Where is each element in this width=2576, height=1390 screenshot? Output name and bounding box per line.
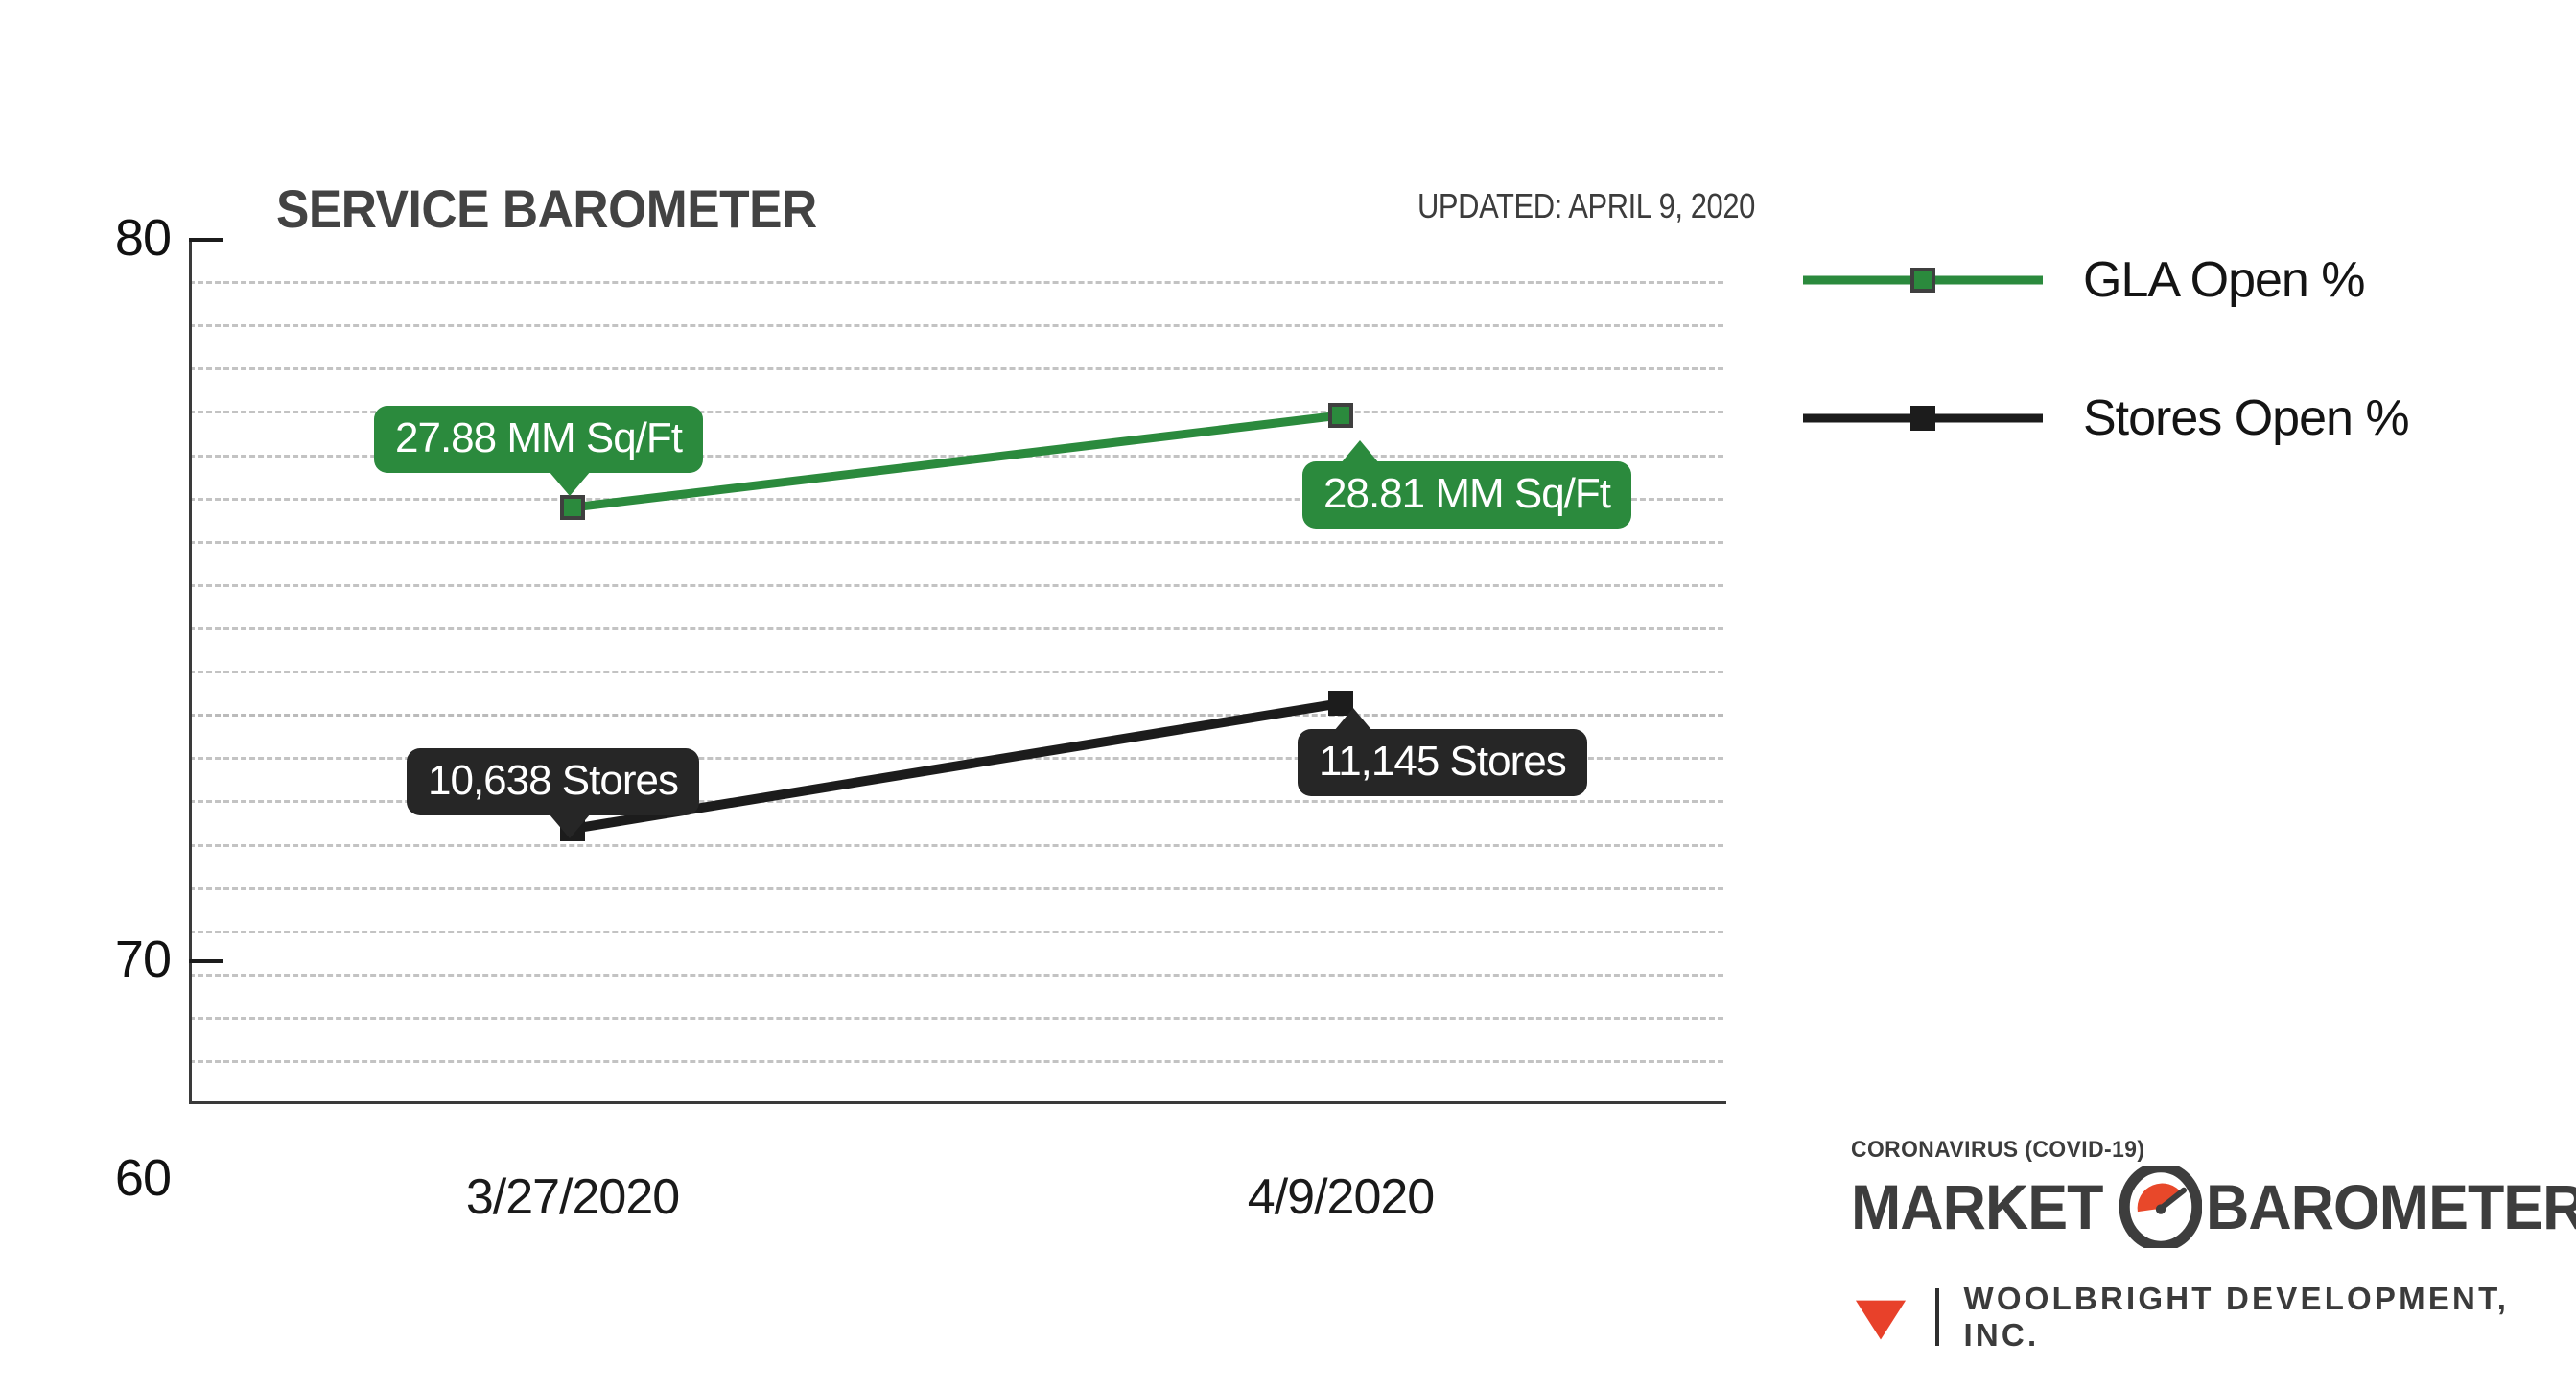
chart-canvas: SERVICE BAROMETER UPDATED: APRIL 9, 2020: [0, 0, 2576, 1390]
updated-timestamp: UPDATED: APRIL 9, 2020: [1417, 186, 1755, 226]
gridline: [189, 844, 1723, 847]
data-label-gla-1: 27.88 MM Sq/Ft: [374, 406, 703, 473]
page-title: SERVICE BAROMETER: [276, 177, 817, 240]
legend-marker: [1910, 268, 1935, 293]
y-axis: [189, 238, 192, 1103]
gridline: [189, 671, 1723, 673]
legend-label-stores-open: Stores Open %: [2083, 389, 2409, 447]
gridline: [189, 714, 1723, 717]
y-tick-mark-70: [189, 959, 223, 963]
x-tick-label-1: 3/27/2020: [466, 1168, 679, 1226]
brand-word-market: MARKET: [1851, 1170, 2102, 1243]
legend-marker: [1910, 406, 1935, 431]
y-tick-label-70: 70: [75, 930, 171, 989]
data-point-gla-1[interactable]: [560, 495, 585, 520]
legend-item-stores-open[interactable]: Stores Open %: [1803, 378, 2474, 459]
data-label-gla-1-text: 27.88 MM Sq/Ft: [395, 414, 682, 461]
brand-kicker: CORONAVIRUS (COVID-19): [1851, 1137, 2489, 1164]
gridline: [189, 367, 1723, 370]
company-name: WOOLBRIGHT DEVELOPMENT, INC.: [1964, 1281, 2522, 1354]
y-tick-mark-80: [189, 238, 223, 242]
data-label-stores-1-text: 10,638 Stores: [428, 757, 678, 804]
service-barometer-chart: SERVICE BAROMETER UPDATED: APRIL 9, 2020: [0, 0, 1726, 1390]
gridline: [189, 931, 1723, 933]
data-point-gla-2[interactable]: [1328, 403, 1353, 428]
branding-block: CORONAVIRUS (COVID-19) MARKET BAROMETER …: [1851, 1137, 2522, 1354]
gridline: [189, 1017, 1723, 1020]
data-label-gla-2: 28.81 MM Sq/Ft: [1302, 461, 1631, 529]
gridline: [189, 324, 1723, 327]
callout-tail: [549, 471, 591, 496]
y-tick-label-80: 80: [75, 208, 171, 268]
data-label-stores-2-text: 11,145 Stores: [1319, 738, 1566, 785]
y-tick-label-60: 60: [75, 1148, 171, 1208]
woolbright-logo: WOOLBRIGHT DEVELOPMENT, INC.: [1851, 1281, 2522, 1354]
gridline: [189, 281, 1723, 284]
callout-tail: [1341, 440, 1379, 463]
chart-legend: GLA Open % Stores Open %: [1803, 240, 2474, 516]
logo-divider: [1935, 1288, 1939, 1346]
plot-area: [189, 238, 1723, 1103]
gridline: [189, 974, 1723, 977]
brand-word-barometer: BAROMETER: [2206, 1170, 2576, 1243]
gridline: [189, 584, 1723, 587]
gridline: [189, 627, 1723, 630]
legend-swatch-stores-open: [1803, 406, 2043, 431]
gauge-icon: [2119, 1166, 2202, 1248]
data-label-stores-2: 11,145 Stores: [1298, 729, 1587, 796]
gridline: [189, 1060, 1723, 1063]
legend-item-gla-open[interactable]: GLA Open %: [1803, 240, 2474, 320]
x-tick-label-2: 4/9/2020: [1248, 1168, 1434, 1226]
callout-tail: [549, 813, 591, 838]
woolbright-w-icon: [1851, 1287, 1910, 1347]
callout-tail: [1334, 708, 1372, 731]
legend-label-gla-open: GLA Open %: [2083, 251, 2365, 309]
gridline: [189, 887, 1723, 890]
market-barometer-logo: MARKET BAROMETER: [1851, 1166, 2522, 1248]
legend-swatch-gla-open: [1803, 268, 2043, 293]
data-label-stores-1: 10,638 Stores: [407, 748, 699, 815]
gridline: [189, 541, 1723, 544]
x-axis: [189, 1101, 1726, 1104]
data-label-gla-2-text: 28.81 MM Sq/Ft: [1323, 470, 1610, 517]
